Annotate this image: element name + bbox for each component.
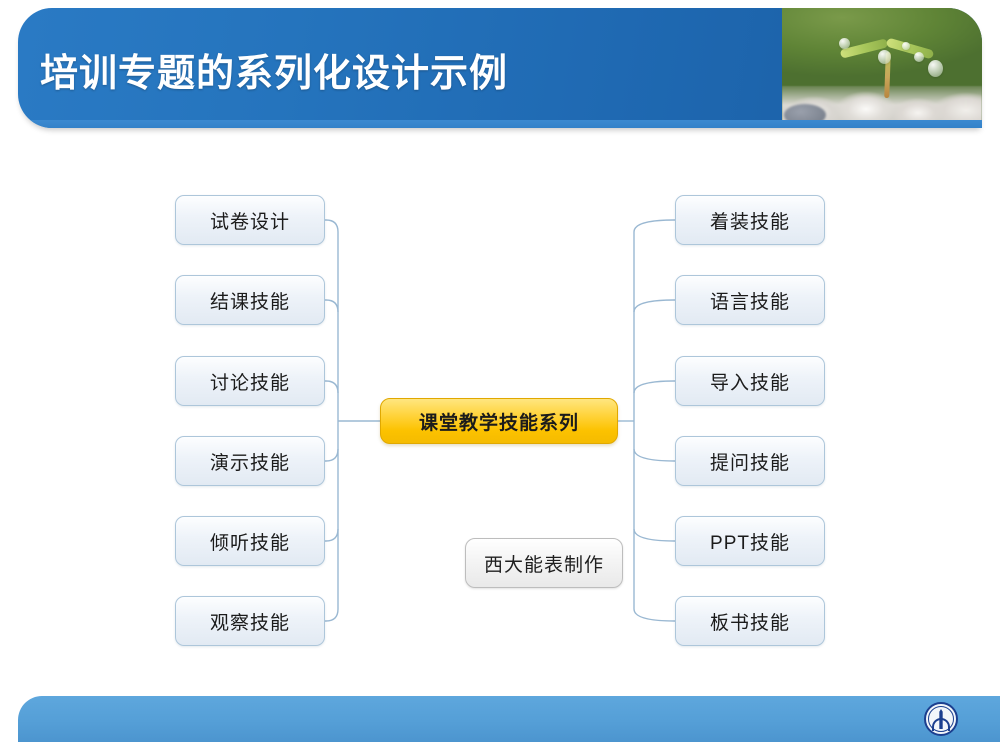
mindmap-node-left-2[interactable]: 结课技能 [175, 275, 325, 325]
node-label: 结课技能 [210, 287, 290, 314]
mindmap-note-node[interactable]: 西大能表制作 [465, 538, 623, 588]
page-title: 培训专题的系列化设计示例 [40, 42, 508, 97]
node-label: 语言技能 [710, 287, 790, 314]
slide-canvas: 培训专题的系列化设计示例 [0, 0, 1000, 750]
university-seal-logo-icon [924, 702, 958, 736]
seal-arch-shape [932, 718, 950, 731]
dew-drop-icon [839, 38, 850, 49]
mindmap-node-left-3[interactable]: 讨论技能 [175, 356, 325, 406]
mindmap-node-left-6[interactable]: 观察技能 [175, 596, 325, 646]
footer-bar [18, 696, 1000, 742]
sprout-photo [782, 8, 982, 128]
mindmap-center-node[interactable]: 课堂教学技能系列 [380, 398, 618, 444]
node-label: 倾听技能 [210, 528, 290, 555]
node-label: 板书技能 [710, 608, 790, 635]
node-label: 演示技能 [210, 448, 290, 475]
node-label: 讨论技能 [210, 368, 290, 395]
node-label: 着装技能 [710, 207, 790, 234]
node-label: 观察技能 [210, 608, 290, 635]
mindmap-node-left-5[interactable]: 倾听技能 [175, 516, 325, 566]
node-label: 试卷设计 [210, 207, 290, 234]
header-underline [18, 120, 982, 128]
dew-drop-icon [928, 60, 943, 77]
dew-drop-icon [914, 52, 924, 62]
center-node-label: 课堂教学技能系列 [419, 408, 579, 435]
mindmap-node-right-6[interactable]: 板书技能 [675, 596, 825, 646]
note-node-label: 西大能表制作 [484, 550, 604, 577]
node-label: 提问技能 [710, 448, 790, 475]
mindmap-node-left-1[interactable]: 试卷设计 [175, 195, 325, 245]
node-label: 导入技能 [710, 368, 790, 395]
dew-drop-icon [902, 42, 910, 50]
mindmap-node-right-3[interactable]: 导入技能 [675, 356, 825, 406]
mindmap-node-right-2[interactable]: 语言技能 [675, 275, 825, 325]
mindmap-node-left-4[interactable]: 演示技能 [175, 436, 325, 486]
mindmap-node-right-1[interactable]: 着装技能 [675, 195, 825, 245]
node-label: PPT技能 [710, 528, 790, 555]
mindmap-node-right-4[interactable]: 提问技能 [675, 436, 825, 486]
mindmap-node-right-5[interactable]: PPT技能 [675, 516, 825, 566]
header-banner: 培训专题的系列化设计示例 [18, 8, 982, 128]
mindmap-diagram: 试卷设计 结课技能 讨论技能 演示技能 倾听技能 观察技能 着装技能 语言技能 … [0, 150, 1000, 670]
dew-drop-icon [878, 50, 891, 64]
